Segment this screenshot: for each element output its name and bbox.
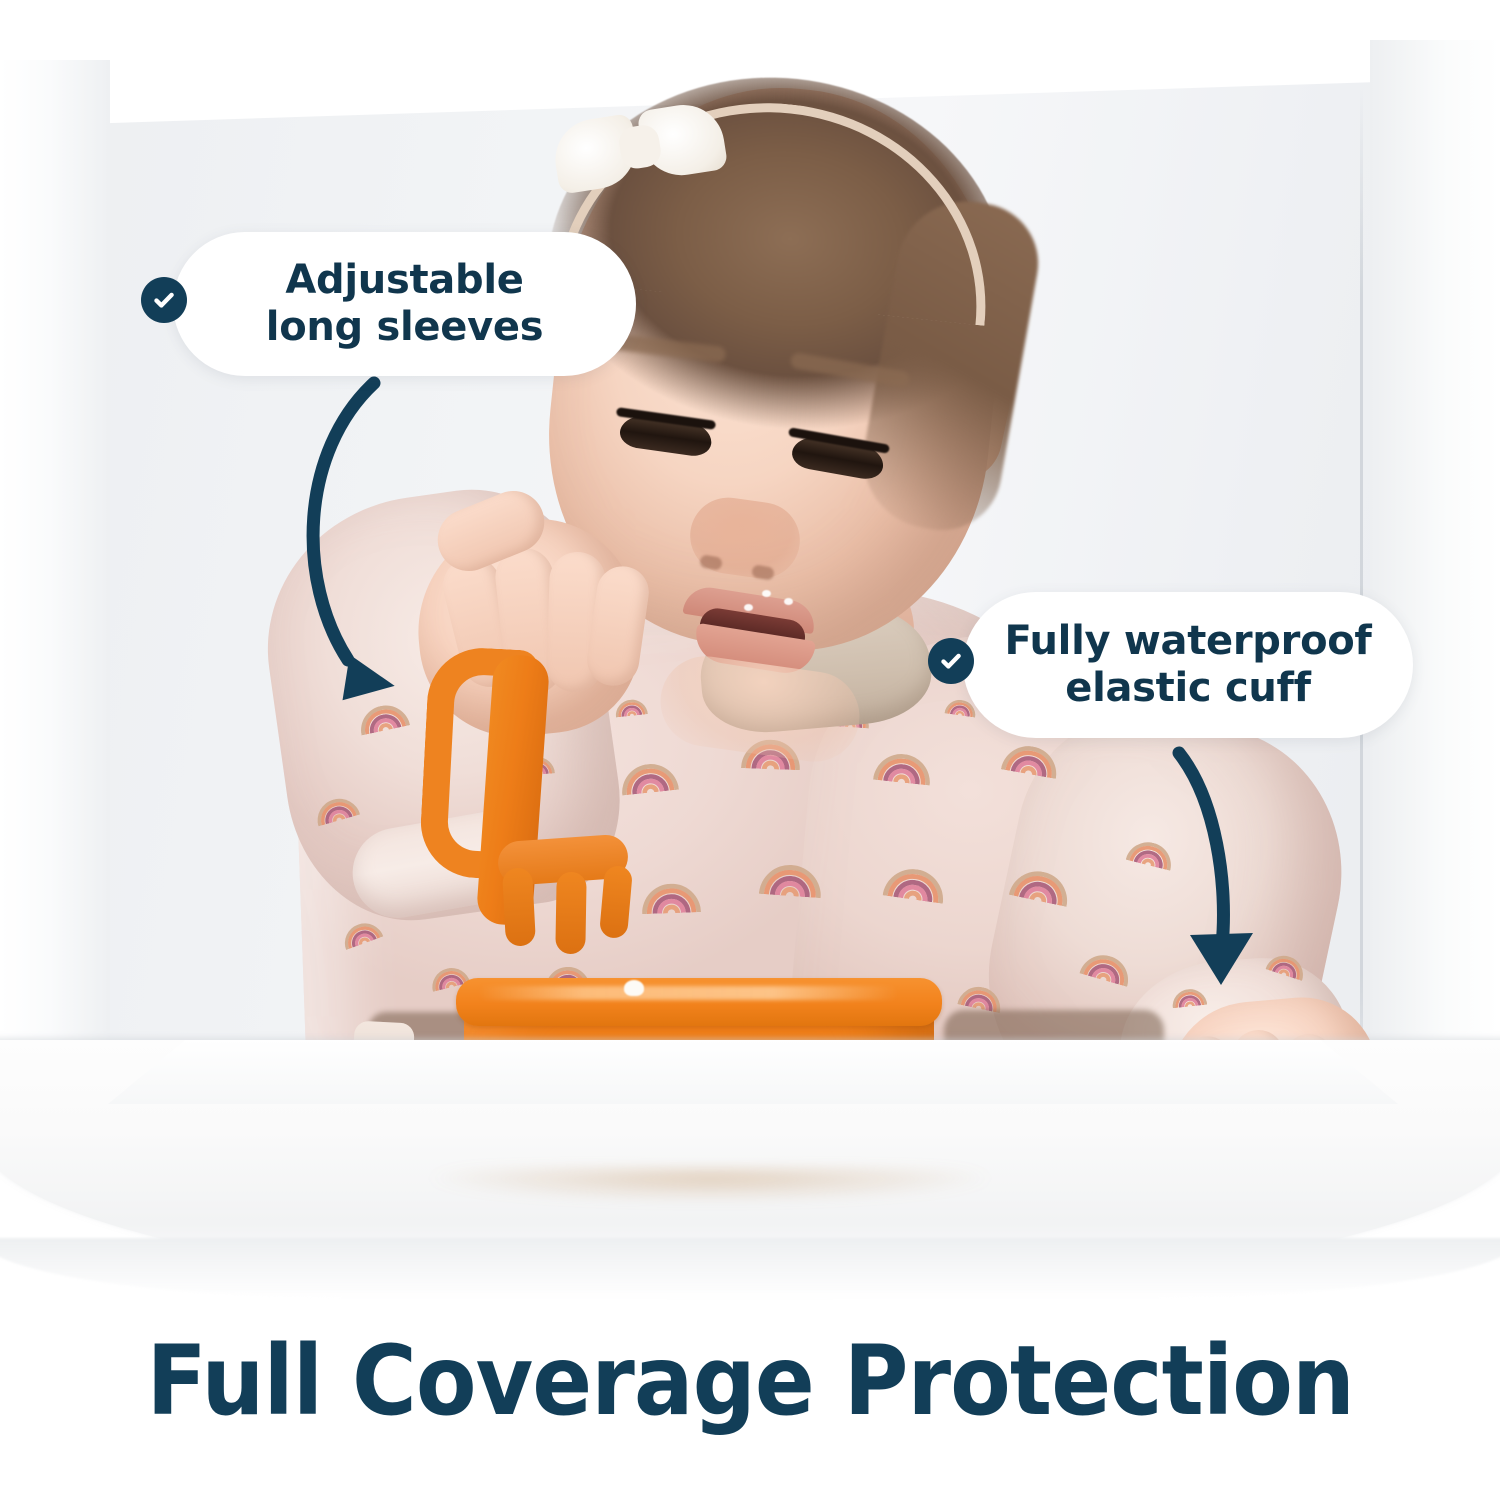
callout-text: Fully waterproof elastic cuff: [978, 618, 1397, 712]
check-circle-icon: [928, 638, 974, 684]
headline-banner: Full Coverage Protection: [0, 1316, 1500, 1446]
callout-adjustable-long-sleeves[interactable]: Adjustable long sleeves: [173, 232, 636, 376]
callout-line-2: long sleeves: [266, 304, 543, 351]
infographic-canvas: Adjustable long sleeves Fully waterproof…: [0, 0, 1500, 1500]
callout-text: Adjustable long sleeves: [240, 257, 569, 351]
arrow-path-right: [1179, 753, 1223, 946]
callout-line-2: elastic cuff: [1004, 665, 1371, 712]
callout-fully-waterproof-elastic-cuff[interactable]: Fully waterproof elastic cuff: [963, 592, 1413, 738]
callout-line-1: Adjustable: [266, 257, 543, 304]
arrow-head-right: [1190, 933, 1253, 985]
product-photo: Adjustable long sleeves Fully waterproof…: [0, 0, 1500, 1300]
arrow-path-left: [313, 383, 374, 660]
callout-line-1: Fully waterproof: [1004, 618, 1371, 665]
page-title: Full Coverage Protection: [146, 1325, 1354, 1437]
check-circle-icon: [141, 277, 187, 323]
arrow-head-left: [343, 654, 397, 703]
